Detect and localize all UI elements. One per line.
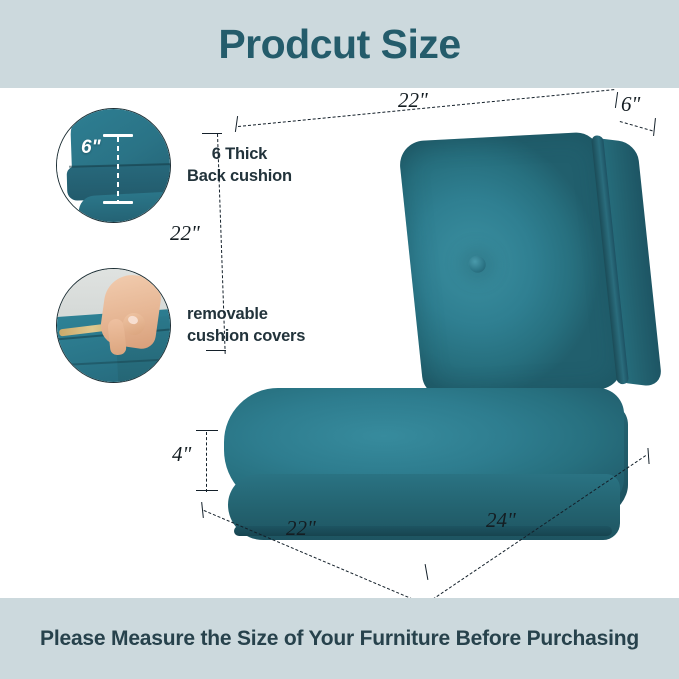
dimension-label-back-width: 22" <box>398 88 428 113</box>
header-band: Prodcut Size <box>0 0 679 88</box>
removable-cover-image <box>56 268 171 383</box>
back-cushion <box>398 131 625 398</box>
dimension-label-back-depth: 6" <box>621 92 640 117</box>
footer-text: Please Measure the Size of Your Furnitur… <box>10 625 669 653</box>
dimension-label-back-height: 22" <box>170 221 200 246</box>
dimension-label-seat-depth: 22" <box>286 516 316 541</box>
thickness-dimension-marker <box>103 134 137 204</box>
dimension-label-seat-width: 24" <box>486 508 516 533</box>
footer-band: Please Measure the Size of Your Furnitur… <box>0 598 679 679</box>
dimension-label-seat-height: 4" <box>172 442 191 467</box>
infographic-page: Prodcut Size 6" 6 Thick Back cushion <box>0 0 679 679</box>
page-title: Prodcut Size <box>218 24 460 65</box>
thickness-dimension-label: 6" <box>81 137 101 159</box>
seat-cushion <box>224 388 624 564</box>
back-cushion-thickness-image: 6" <box>56 108 171 223</box>
product-illustration: 22" 6" 22" 4" 22" <box>176 96 676 586</box>
